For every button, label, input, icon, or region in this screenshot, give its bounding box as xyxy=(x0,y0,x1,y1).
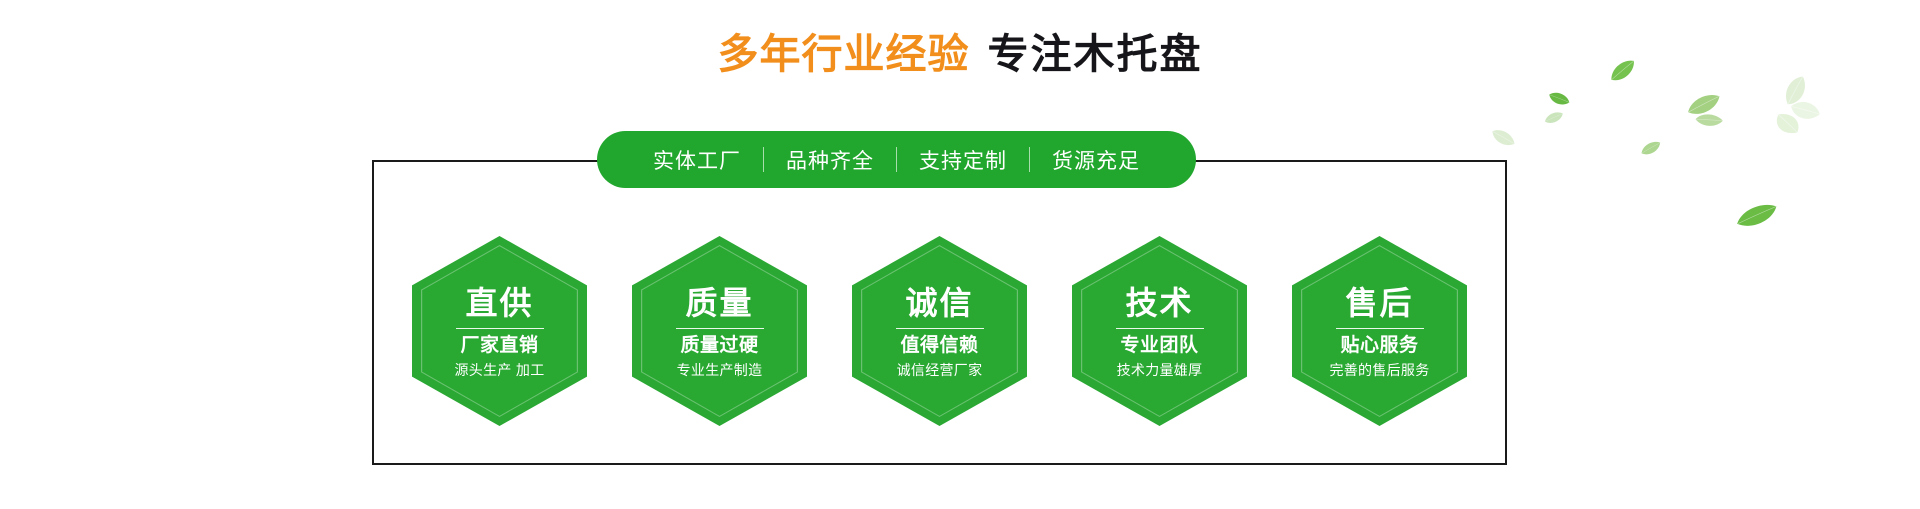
hexagon-badge-4[interactable]: 技术专业团队技术力量雄厚 xyxy=(1072,236,1247,426)
leaf-icon xyxy=(1488,123,1518,152)
hexagon-divider xyxy=(676,328,764,330)
hexagon-title: 直供 xyxy=(465,287,533,321)
pill-separator xyxy=(896,147,897,172)
hexagon-badge-1[interactable]: 直供厂家直销源头生产 加工 xyxy=(412,236,587,426)
hexagon-subtitle: 贴心服务 xyxy=(1340,335,1418,358)
hexagon-subtitle: 质量过硬 xyxy=(680,335,758,358)
headline-main-text: 专注木托盘 xyxy=(988,31,1203,77)
leaf-icon xyxy=(1770,107,1803,141)
hexagon-description: 源头生产 加工 xyxy=(455,362,545,379)
hexagon-badge-5[interactable]: 售后贴心服务完善的售后服务 xyxy=(1292,236,1467,426)
hexagon-subtitle: 厂家直销 xyxy=(460,335,538,358)
promo-banner: 多年行业经验专注木托盘 实体工厂品种齐全支持定制货源充足 直供厂家直销源头生产 … xyxy=(0,0,1920,509)
hexagon-title: 售后 xyxy=(1345,287,1413,321)
hexagon-description: 完善的售后服务 xyxy=(1329,362,1429,379)
feature-tag-4[interactable]: 货源充足 xyxy=(1030,145,1162,175)
hexagon-text-group: 质量质量过硬专业生产制造 xyxy=(632,236,807,426)
hexagon-description: 技术力量雄厚 xyxy=(1117,362,1203,379)
leaf-icon xyxy=(1733,200,1781,232)
hexagon-subtitle: 值得信赖 xyxy=(900,335,978,358)
hexagon-title: 诚信 xyxy=(905,287,973,321)
feature-tag-pill: 实体工厂品种齐全支持定制货源充足 xyxy=(597,131,1196,188)
hexagon-badge-2[interactable]: 质量质量过硬专业生产制造 xyxy=(632,236,807,426)
leaf-icon xyxy=(1546,87,1572,111)
hexagon-badge-3[interactable]: 诚信值得信赖诚信经营厂家 xyxy=(852,236,1027,426)
leaf-icon xyxy=(1543,110,1565,126)
hexagon-description: 专业生产制造 xyxy=(677,362,763,379)
page-title: 多年行业经验专注木托盘 xyxy=(0,34,1920,75)
hexagon-divider xyxy=(456,328,544,330)
hexagon-divider xyxy=(1336,328,1424,330)
hexagon-text-group: 技术专业团队技术力量雄厚 xyxy=(1072,236,1247,426)
hexagon-description: 诚信经营厂家 xyxy=(897,362,983,379)
hexagon-divider xyxy=(1116,328,1204,330)
hexagon-text-group: 直供厂家直销源头生产 加工 xyxy=(412,236,587,426)
leaf-icon xyxy=(1787,94,1824,128)
hexagon-badge-row: 直供厂家直销源头生产 加工质量质量过硬专业生产制造诚信值得信赖诚信经营厂家技术专… xyxy=(372,236,1507,421)
pill-separator xyxy=(1029,147,1030,172)
feature-tag-2[interactable]: 品种齐全 xyxy=(764,145,896,175)
pill-separator xyxy=(763,147,764,172)
hexagon-subtitle: 专业团队 xyxy=(1120,335,1198,358)
headline-accent-text: 多年行业经验 xyxy=(718,31,970,77)
feature-tag-1[interactable]: 实体工厂 xyxy=(631,145,763,175)
hexagon-text-group: 售后贴心服务完善的售后服务 xyxy=(1292,236,1467,426)
leaf-icon xyxy=(1639,139,1664,158)
hexagon-divider xyxy=(896,328,984,330)
hexagon-text-group: 诚信值得信赖诚信经营厂家 xyxy=(852,236,1027,426)
hexagon-title: 技术 xyxy=(1125,287,1193,321)
leaf-icon xyxy=(1684,90,1724,119)
leaf-icon xyxy=(1777,72,1815,111)
feature-tag-3[interactable]: 支持定制 xyxy=(897,145,1029,175)
leaf-icon xyxy=(1694,110,1725,131)
hexagon-title: 质量 xyxy=(685,287,753,321)
